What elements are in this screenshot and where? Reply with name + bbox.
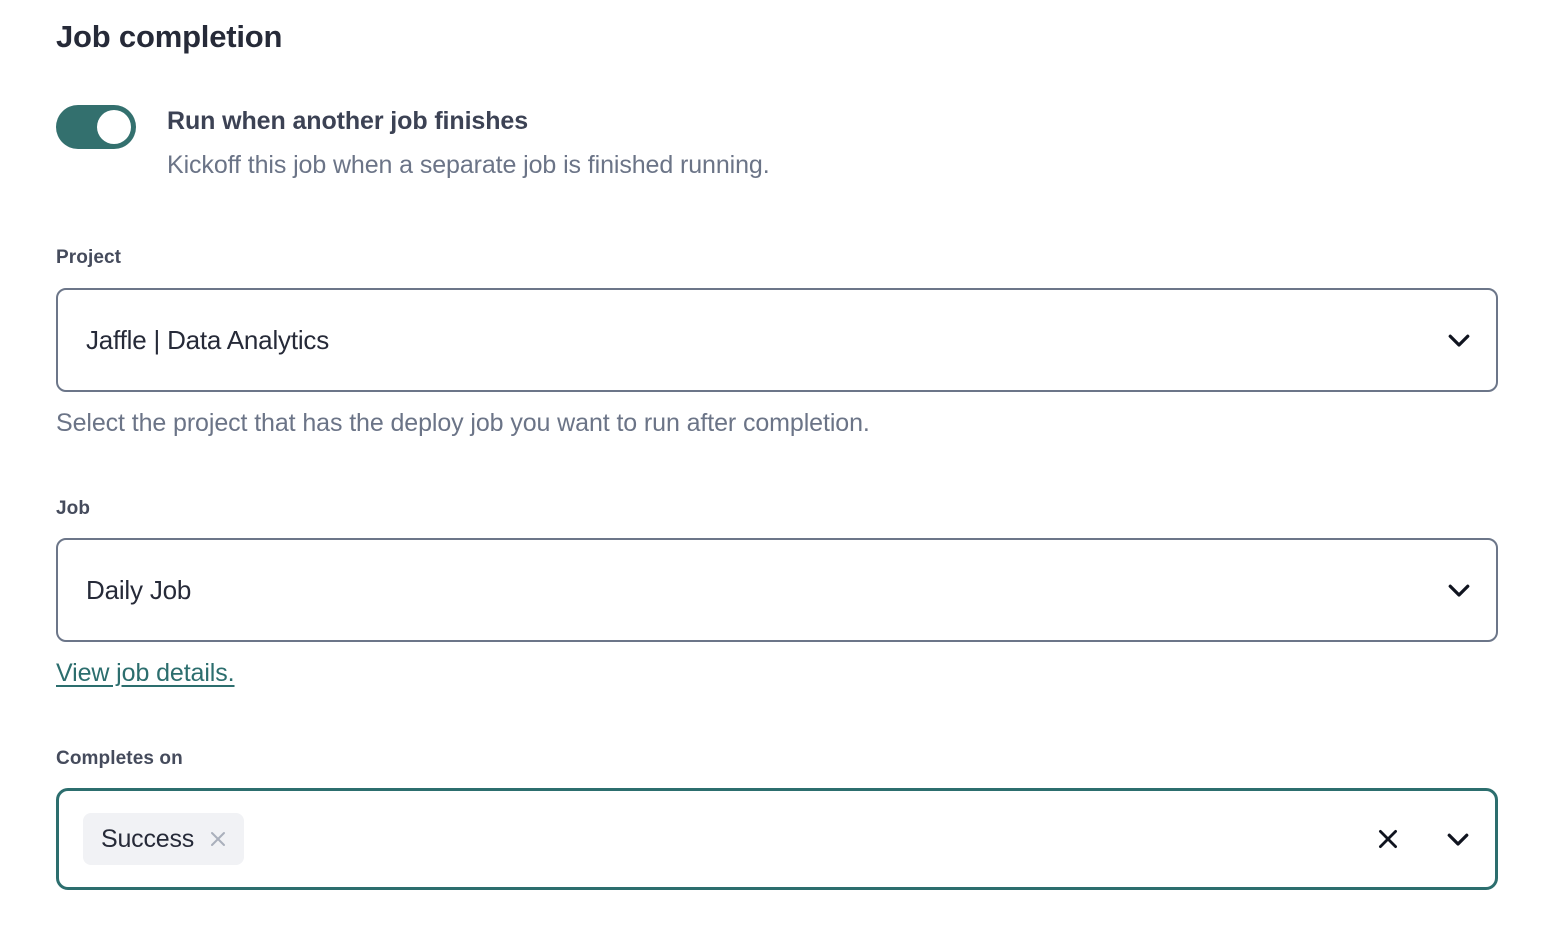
project-helper-text: Select the project that has the deploy j… bbox=[56, 406, 870, 440]
toggle-knob bbox=[97, 110, 131, 144]
page-title: Job completion bbox=[56, 16, 282, 58]
project-label: Project bbox=[56, 245, 121, 271]
multiselect-actions bbox=[1363, 824, 1473, 854]
run-when-another-job-finishes-toggle[interactable] bbox=[56, 105, 136, 149]
run-when-another-job-finishes-row: Run when another job finishes Kickoff th… bbox=[56, 104, 770, 181]
chevron-down-icon[interactable] bbox=[1444, 325, 1474, 355]
job-completion-settings-panel: Job completion Run when another job fini… bbox=[0, 0, 1564, 936]
view-job-details-link[interactable]: View job details. bbox=[56, 656, 235, 690]
toggle-description: Kickoff this job when a separate job is … bbox=[167, 149, 770, 181]
chevron-down-icon[interactable] bbox=[1444, 575, 1474, 605]
close-icon[interactable] bbox=[1375, 826, 1401, 852]
chevron-down-icon[interactable] bbox=[1443, 824, 1473, 854]
selected-chips: Success bbox=[83, 813, 1363, 865]
chip-label: Success bbox=[101, 824, 194, 854]
project-select[interactable]: Jaffle | Data Analytics bbox=[56, 288, 1498, 392]
completes-on-multiselect[interactable]: Success bbox=[56, 788, 1498, 890]
close-icon[interactable] bbox=[208, 829, 228, 849]
project-select-value: Jaffle | Data Analytics bbox=[86, 323, 1444, 357]
chip-success[interactable]: Success bbox=[83, 813, 244, 865]
job-label: Job bbox=[56, 496, 90, 522]
job-select-value: Daily Job bbox=[86, 573, 1444, 607]
toggle-label: Run when another job finishes bbox=[167, 104, 770, 138]
job-select[interactable]: Daily Job bbox=[56, 538, 1498, 642]
completes-on-label: Completes on bbox=[56, 746, 183, 772]
toggle-text-block: Run when another job finishes Kickoff th… bbox=[167, 104, 770, 181]
